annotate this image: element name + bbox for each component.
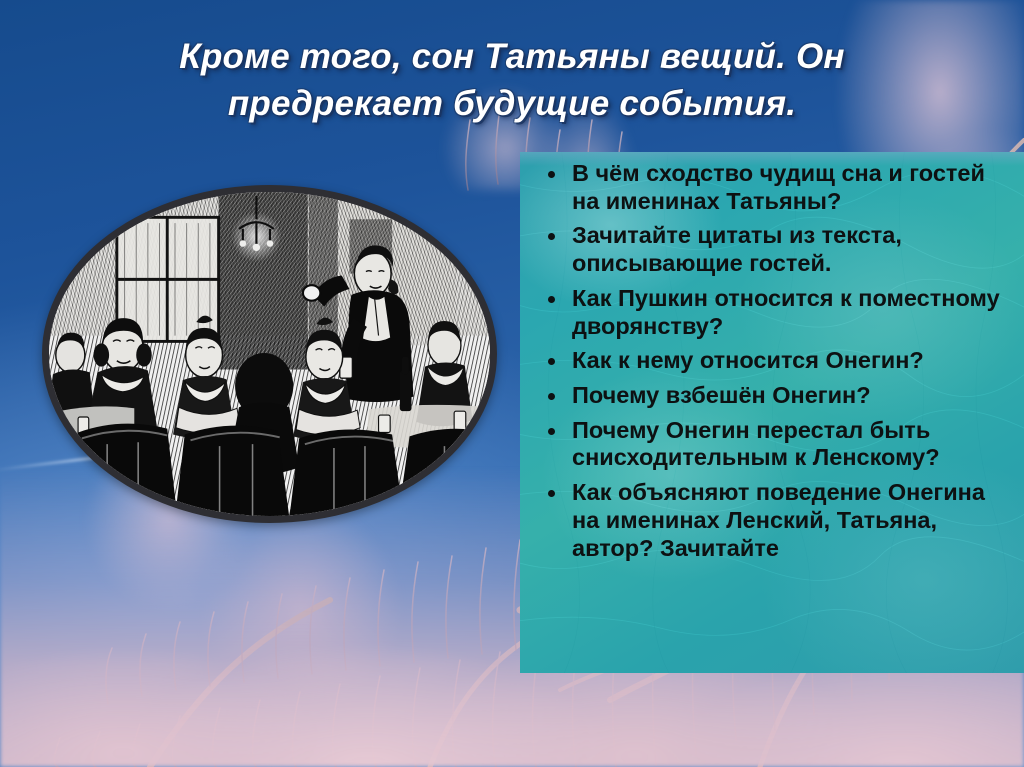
question-list: В чём сходство чудищ сна и гостей на име…: [536, 160, 1018, 569]
list-item: Как к нему относится Онегин?: [536, 347, 1018, 375]
list-item: В чём сходство чудищ сна и гостей на име…: [536, 160, 1018, 215]
list-item: Почему Онегин перестал быть снисходитель…: [536, 417, 1018, 472]
oval-image-frame: [42, 185, 497, 523]
list-item: Как объясняют поведение Онегина на имени…: [536, 479, 1018, 562]
title-line-1: Кроме того, сон Татьяны вещий. Он: [46, 34, 978, 81]
title-line-2: предрекает будущие события.: [46, 81, 978, 128]
list-item: Зачитайте цитаты из текста, описывающие …: [536, 222, 1018, 277]
list-item: Как Пушкин относится к поместному дворян…: [536, 285, 1018, 340]
engraving-artwork: [49, 192, 490, 516]
engraving-dinner-party: [42, 185, 497, 523]
list-item: Почему взбешён Онегин?: [536, 382, 1018, 410]
slide: Кроме того, сон Татьяны вещий. Он предре…: [0, 0, 1024, 767]
questions-panel: В чём сходство чудищ сна и гостей на име…: [520, 152, 1024, 673]
page-title: Кроме того, сон Татьяны вещий. Он предре…: [46, 34, 978, 127]
